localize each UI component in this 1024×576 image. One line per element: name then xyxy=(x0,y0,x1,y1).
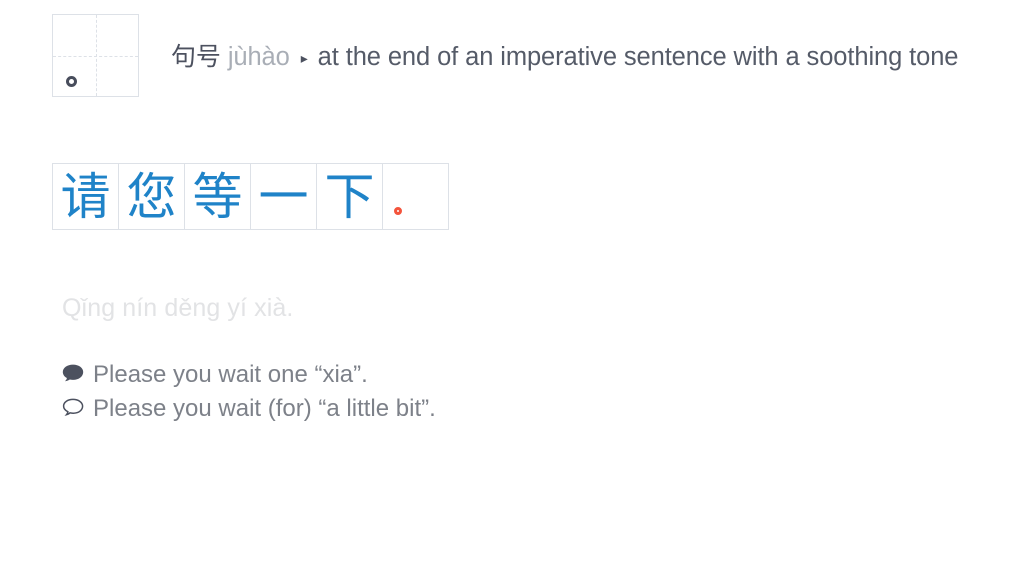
character-cell: 等 xyxy=(185,164,251,229)
speech-bubble-outline-icon xyxy=(62,398,84,415)
character-cell: 您 xyxy=(119,164,185,229)
translation-row-literal: Please you wait one “xia”. xyxy=(62,363,436,397)
sentence-pinyin: Qǐng nín děng yí xià. xyxy=(62,294,293,323)
punctuation-title: 句号 jùhào ▸ at the end of an imperative s… xyxy=(171,44,958,71)
triangle-right-icon: ▸ xyxy=(301,50,308,66)
character-cell: 一 xyxy=(251,164,317,229)
sentence-character-grid: 请 您 等 一 下 xyxy=(52,163,449,230)
speech-bubble-filled-icon xyxy=(62,364,84,381)
translation-text: Please you wait (for) “a little bit”. xyxy=(93,397,436,421)
period-ring-mark-orange xyxy=(394,207,402,215)
translation-row-natural: Please you wait (for) “a little bit”. xyxy=(62,397,436,431)
character-cell: 下 xyxy=(317,164,383,229)
translation-text: Please you wait one “xia”. xyxy=(93,363,368,387)
translation-list: Please you wait one “xia”. Please you wa… xyxy=(62,363,436,431)
period-ring-mark xyxy=(66,76,77,87)
punctuation-cell xyxy=(383,164,449,229)
punctuation-header: 句号 jùhào ▸ at the end of an imperative s… xyxy=(52,14,958,97)
character-glyph: 您 xyxy=(119,172,184,222)
character-cell: 请 xyxy=(53,164,119,229)
punctuation-name-hanzi: 句号 xyxy=(171,42,221,71)
character-glyph: 请 xyxy=(53,172,118,222)
punctuation-gloss: at the end of an imperative sentence wit… xyxy=(318,43,959,71)
character-glyph: 下 xyxy=(317,172,382,222)
character-glyph: 等 xyxy=(185,172,250,222)
period-ring-icon xyxy=(52,14,139,97)
punctuation-name-pinyin: jùhào xyxy=(228,43,290,71)
character-glyph: 一 xyxy=(251,172,316,222)
grid-guide-horizontal xyxy=(53,56,138,57)
